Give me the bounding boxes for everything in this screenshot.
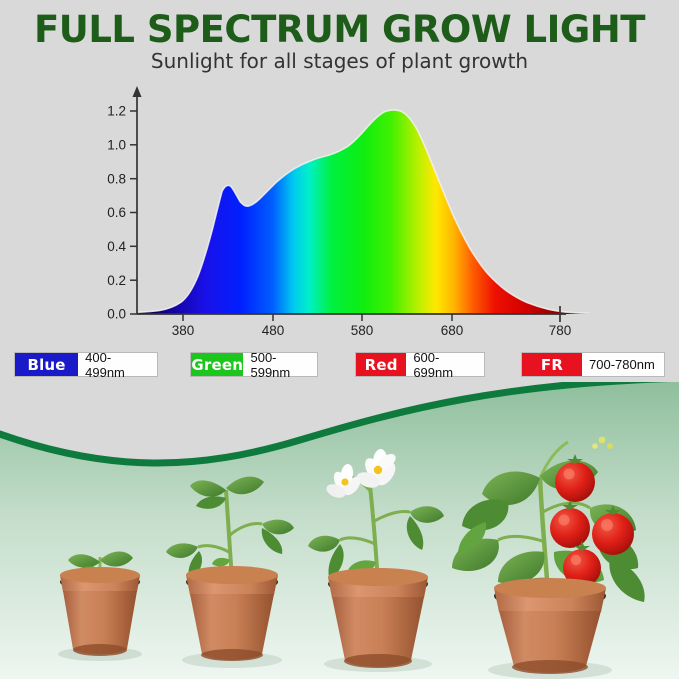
tomato bbox=[555, 462, 595, 502]
legend-item-red: Red 600-699nm bbox=[355, 352, 485, 377]
spectrum-legend: Blue 400-499nm Green 500-599nm Red 600-6… bbox=[0, 352, 679, 378]
y-tick-1: 0.2 bbox=[107, 273, 126, 288]
x-tick-780: 780 bbox=[549, 323, 572, 338]
legend-key-blue: Blue bbox=[15, 353, 78, 376]
x-tick-380: 380 bbox=[172, 323, 195, 338]
legend-range-blue: 400-499nm bbox=[78, 353, 157, 376]
spectrum-chart: 0.0 0.2 0.4 0.6 0.8 1.0 1.2 380 480 580 bbox=[0, 80, 679, 340]
tomato bbox=[592, 513, 634, 555]
legend-item-blue: Blue 400-499nm bbox=[14, 352, 158, 377]
legend-key-green: Green bbox=[191, 353, 243, 376]
legend-key-fr: FR bbox=[522, 353, 582, 376]
y-tick-2: 0.4 bbox=[107, 239, 126, 254]
x-tick-580: 580 bbox=[351, 323, 374, 338]
page-title: FULL SPECTRUM GROW LIGHT bbox=[0, 8, 679, 51]
y-tick-5: 1.0 bbox=[107, 137, 126, 152]
x-axis-ticks bbox=[183, 314, 452, 321]
y-tick-4: 0.8 bbox=[107, 171, 126, 186]
y-tick-6: 1.2 bbox=[107, 104, 126, 119]
spectrum-area bbox=[137, 110, 590, 314]
page-subtitle: Sunlight for all stages of plant growth bbox=[0, 49, 679, 73]
y-axis-ticks bbox=[130, 111, 137, 314]
y-tick-0: 0.0 bbox=[107, 307, 126, 322]
legend-item-fr: FR 700-780nm bbox=[521, 352, 665, 377]
y-axis-tick-labels: 0.0 0.2 0.4 0.6 0.8 1.0 1.2 bbox=[107, 104, 126, 322]
plant-growth-panel bbox=[0, 382, 679, 679]
x-axis-tick-labels: 380 480 580 680 780 bbox=[172, 323, 572, 338]
legend-range-fr: 700-780nm bbox=[582, 353, 662, 376]
spectrum-panel: FULL SPECTRUM GROW LIGHT Sunlight for al… bbox=[0, 0, 679, 392]
legend-range-red: 600-699nm bbox=[406, 353, 484, 376]
y-tick-3: 0.6 bbox=[107, 205, 126, 220]
x-tick-480: 480 bbox=[262, 323, 285, 338]
legend-item-green: Green 500-599nm bbox=[190, 352, 318, 377]
x-tick-680: 680 bbox=[441, 323, 464, 338]
tomato bbox=[550, 508, 590, 548]
legend-key-red: Red bbox=[356, 353, 406, 376]
legend-range-green: 500-599nm bbox=[243, 353, 317, 376]
